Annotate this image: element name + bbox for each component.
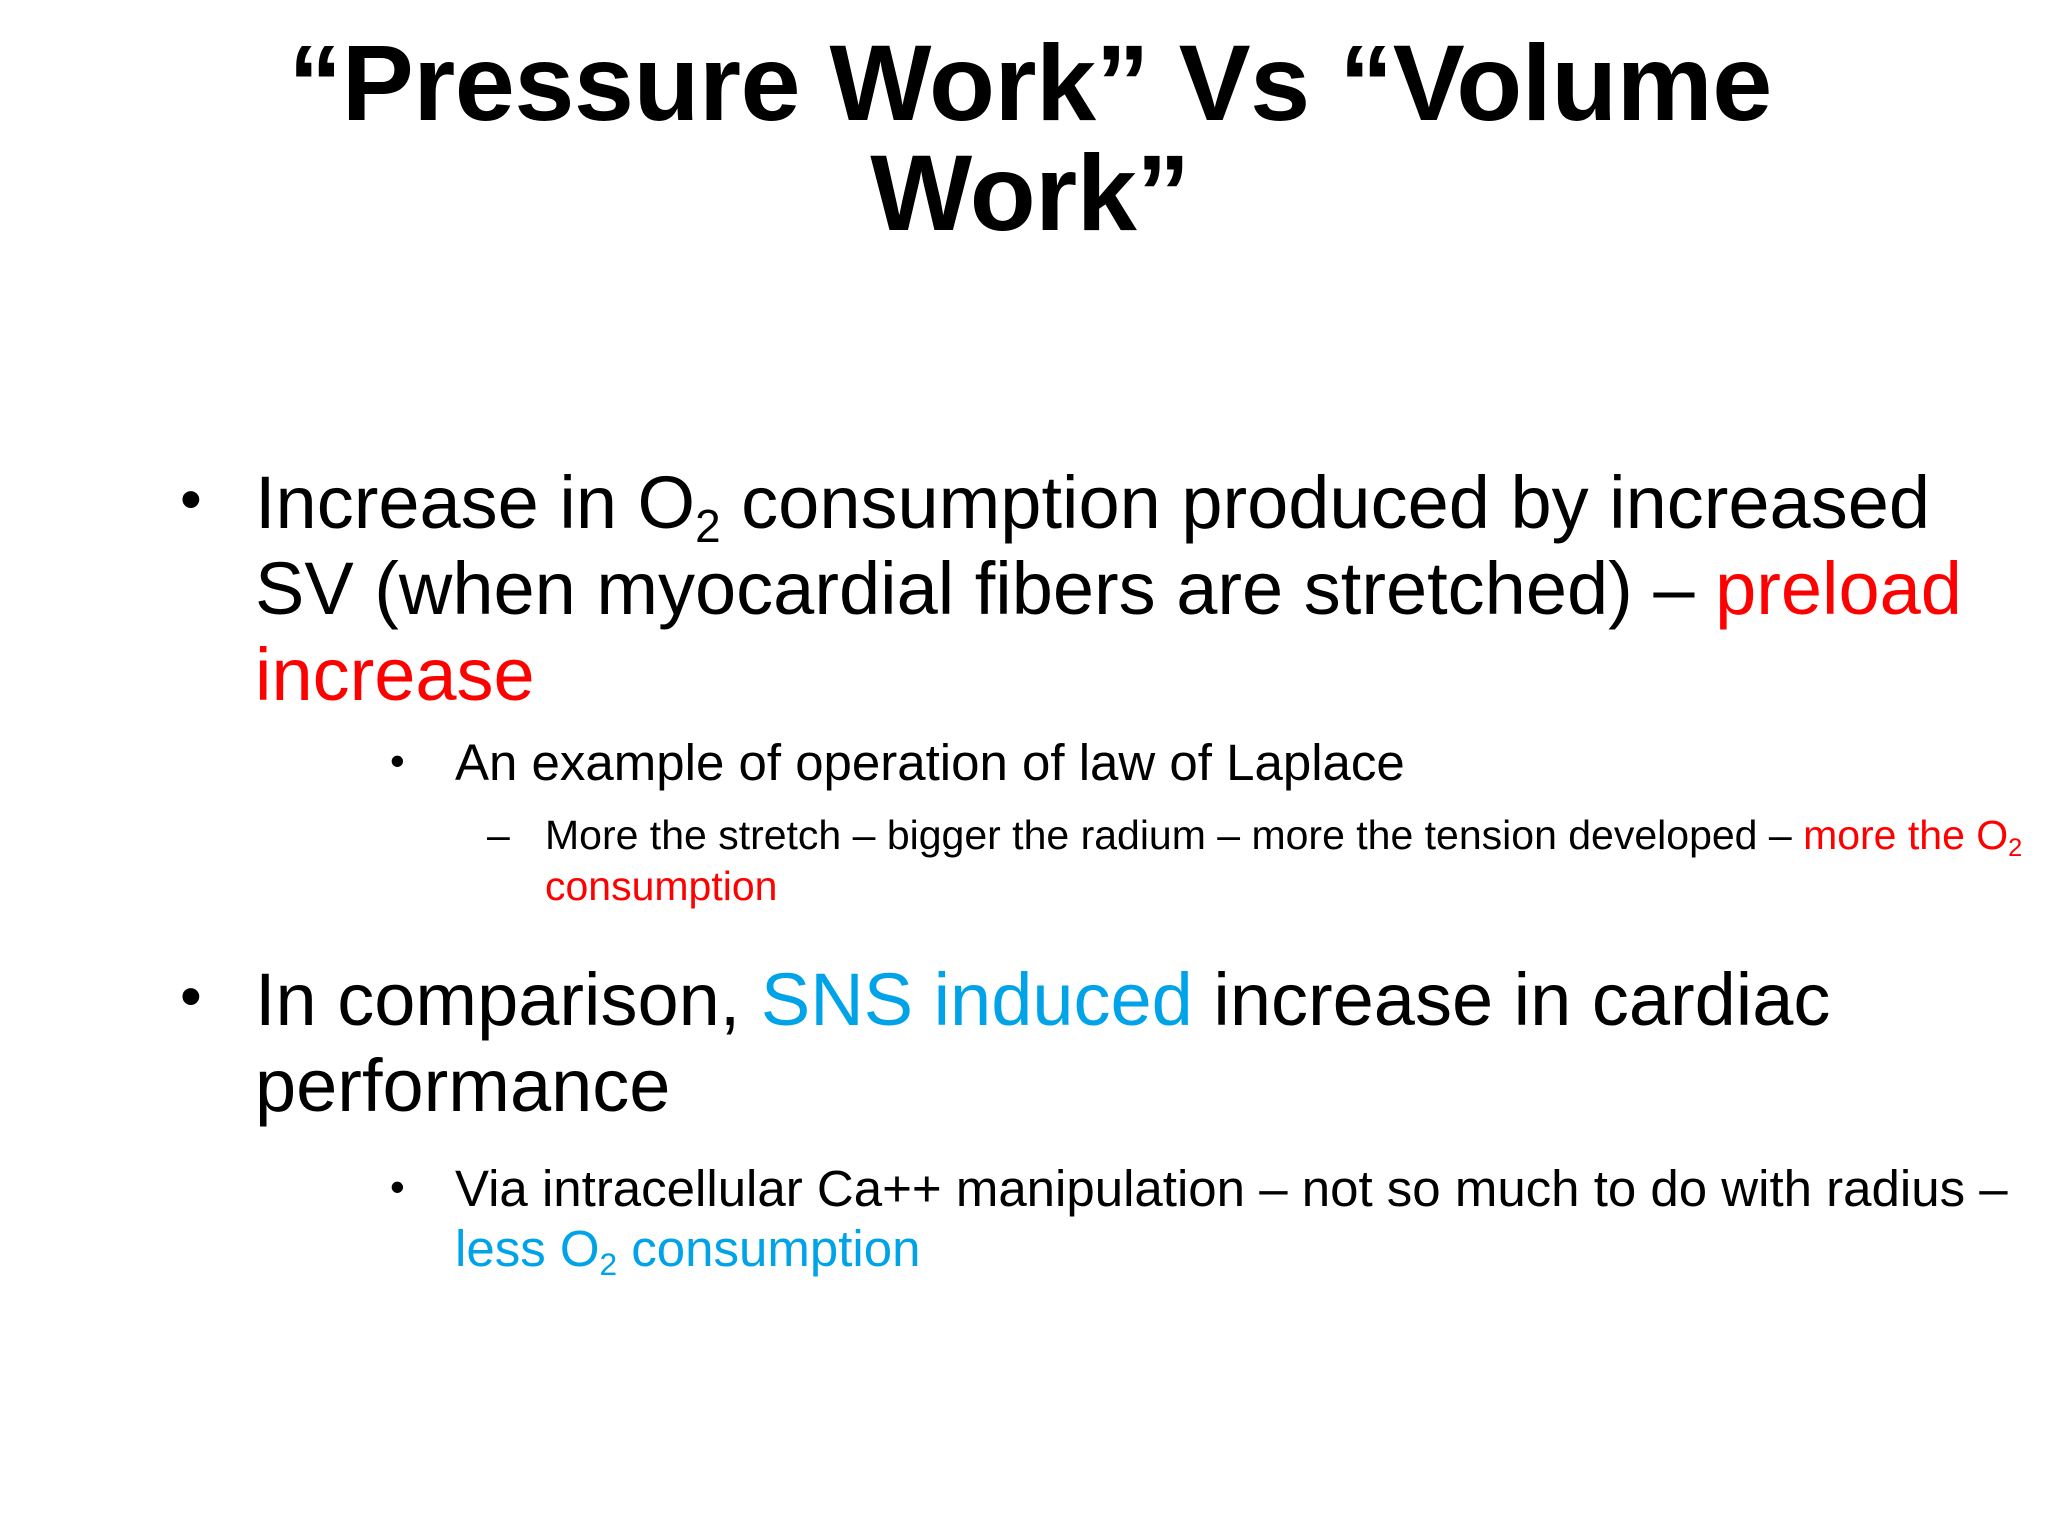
- spacer: [0, 794, 2048, 810]
- spacer: [0, 913, 2048, 957]
- slide-body: • Increase in O2 consumption produced by…: [0, 460, 2048, 1279]
- b2-text-part1: In comparison,: [255, 958, 761, 1041]
- bullet-level1-text: In comparison, SNS induced increase in c…: [255, 957, 2048, 1129]
- bullet-level2-law-of-laplace: • An example of operation of law of Lapl…: [0, 733, 2048, 793]
- bullet-level3-text: More the stretch – bigger the radium – m…: [545, 812, 2022, 910]
- b1s1a-red-part1: more the O: [1803, 812, 2008, 858]
- bullet-level2-calcium-manipulation: • Via intracellular Ca++ manipulation – …: [0, 1159, 2048, 1279]
- b1-subscript-2: 2: [695, 500, 721, 552]
- page-title: “Pressure Work” Vs “Volume Work”: [150, 28, 1910, 248]
- slide: “Pressure Work” Vs “Volume Work” • Incre…: [0, 0, 2048, 1536]
- b1s1a-text-black: More the stretch – bigger the radium – m…: [545, 812, 1803, 858]
- bullet-dot-icon: •: [180, 957, 202, 1038]
- spacer: [0, 1129, 2048, 1159]
- bullet-level2-text: An example of operation of law of Laplac…: [455, 734, 1405, 791]
- bullet-level3-stretch-tension: – More the stretch – bigger the radium –…: [0, 810, 2048, 913]
- bullet-level1-sns-comparison: • In comparison, SNS induced increase in…: [0, 957, 2048, 1129]
- b2s1-cyan-subscript-2: 2: [600, 1246, 618, 1282]
- b2s1-cyan-part2: consumption: [617, 1220, 920, 1277]
- bullet-dash-icon: –: [487, 810, 510, 862]
- b2s1-highlight-less-o2: less O2 consumption: [455, 1220, 920, 1277]
- spacer: [0, 717, 2048, 733]
- bullet-level1-text: Increase in O2 consumption produced by i…: [255, 460, 2048, 717]
- b2s1-cyan-part1: less O: [455, 1220, 600, 1277]
- b1-text-part1: Increase in O: [255, 461, 695, 544]
- bullet-dot-icon: •: [390, 1159, 405, 1215]
- b1s1a-red-subscript-2: 2: [2008, 834, 2022, 862]
- bullet-dot-icon: •: [390, 733, 405, 789]
- bullet-level1-oxygen-consumption: • Increase in O2 consumption produced by…: [0, 460, 2048, 717]
- b2s1-text-black: Via intracellular Ca++ manipulation – no…: [455, 1160, 2008, 1217]
- bullet-dot-icon: •: [180, 460, 202, 541]
- b1s1a-red-part2: consumption: [545, 863, 777, 909]
- bullet-level2-text: Via intracellular Ca++ manipulation – no…: [455, 1160, 2008, 1277]
- b2-highlight-sns-induced: SNS induced: [761, 958, 1193, 1041]
